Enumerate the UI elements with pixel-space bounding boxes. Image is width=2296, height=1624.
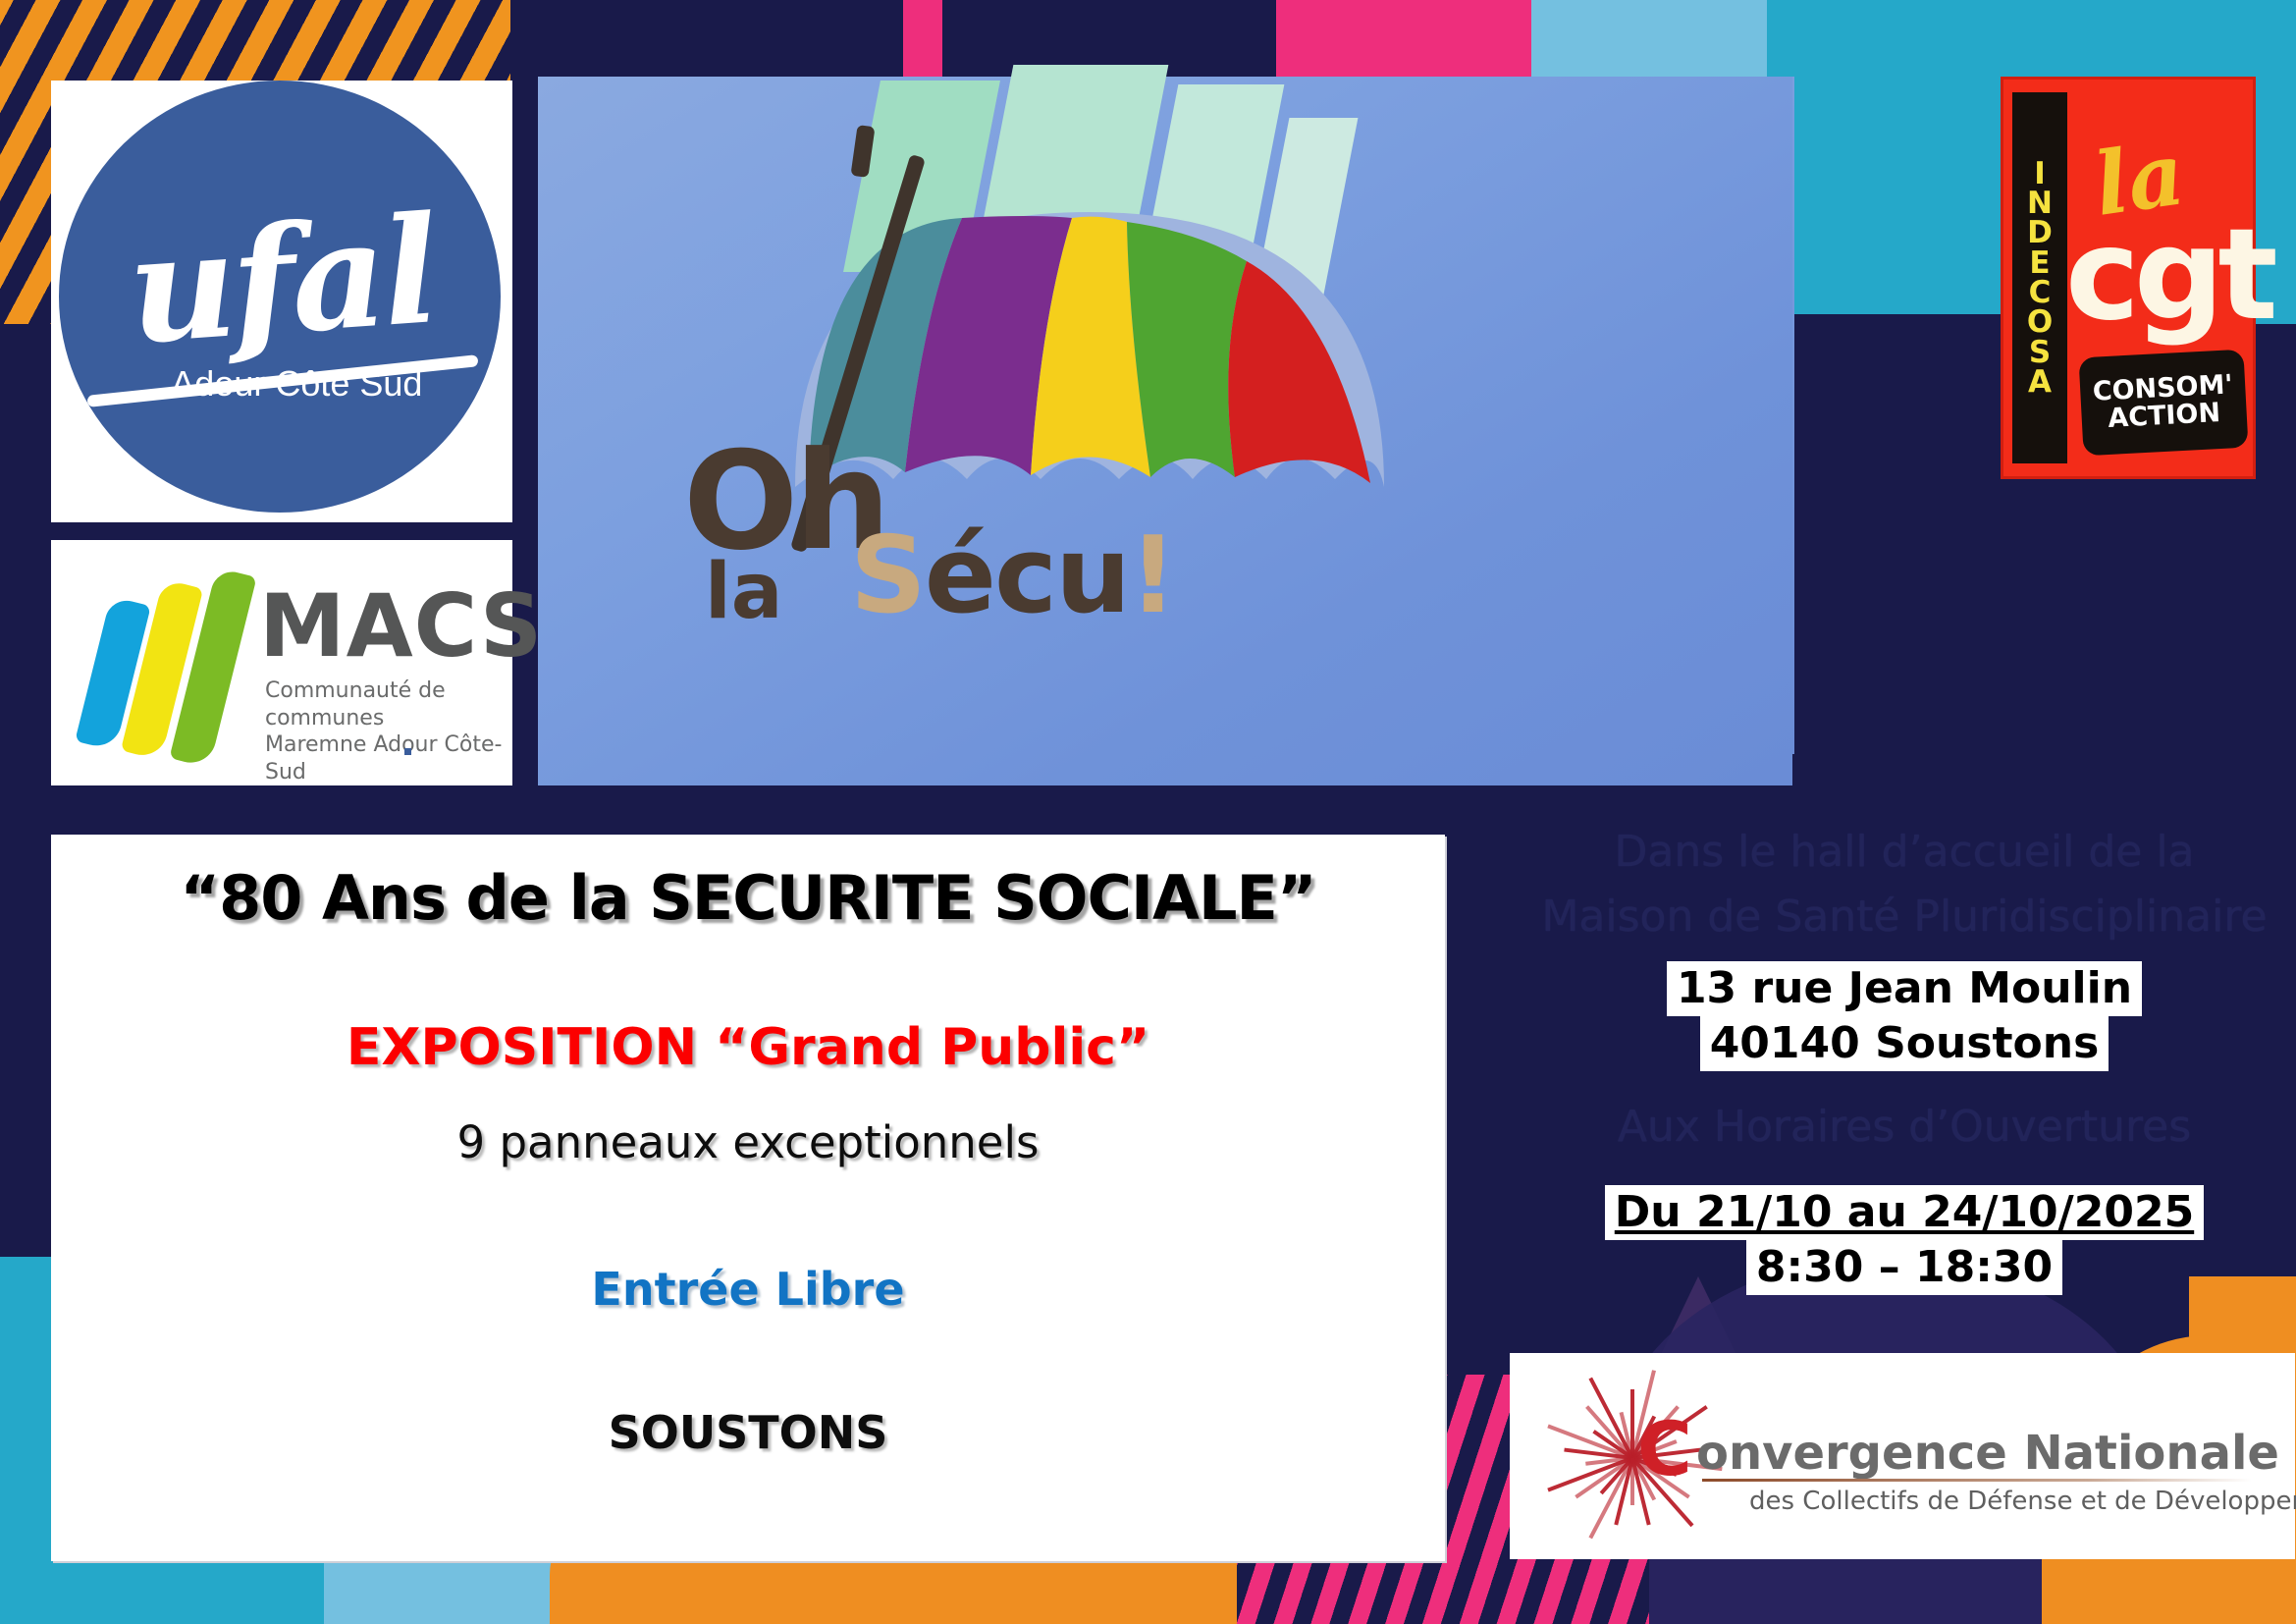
- cgt-wordmark: cgt: [2065, 202, 2272, 349]
- exposition-label: EXPOSITION “Grand Public”: [51, 1018, 1445, 1077]
- oh-la-secu-banner: Oh la Sécu!: [538, 77, 1792, 785]
- venue-street: 13 rue Jean Moulin: [1667, 961, 2142, 1016]
- macs-subtitle-line1: Communauté de communes: [265, 677, 512, 731]
- main-info-panel: “80 Ans de la SECURITE SOCIALE” EXPOSITI…: [51, 835, 1445, 1561]
- logo-text-ecu: écu: [925, 514, 1129, 637]
- macs-dot: [404, 748, 411, 755]
- logo-text-la: la: [705, 548, 782, 636]
- venue-dates: Du 21/10 au 24/10/2025: [1605, 1185, 2204, 1240]
- cgt-indecosa-vertical: INDECOSA: [2012, 92, 2067, 463]
- logo-text-bang: !: [1129, 514, 1175, 637]
- convergence-rule: [1702, 1479, 2252, 1482]
- convergence-subtitle: des Collectifs de Défense et de Développ…: [1749, 1487, 2296, 1516]
- macs-title: MACS: [259, 575, 543, 677]
- logo-text-s: S: [850, 514, 925, 637]
- venue-hours-note: Aux Horaires d’Ouvertures: [1531, 1095, 2277, 1160]
- ufal-logo: ufal Adour Côte Sud: [51, 81, 512, 522]
- macs-subtitle: Communauté de communes Maremne Adour Côt…: [265, 677, 512, 785]
- poster-root: ufal Adour Côte Sud MACS Communauté de c…: [0, 0, 2296, 1624]
- city-label: SOUSTONS: [51, 1406, 1445, 1459]
- venue-address: 13 rue Jean Moulin 40140 Soustons: [1531, 961, 2277, 1071]
- convergence-nationale-logo: C onvergence Nationale des Collectifs de…: [1510, 1353, 2295, 1559]
- cgt-consom-action-badge: CONSOM' ACTION: [2078, 350, 2248, 457]
- free-entry-label: Entrée Libre: [51, 1263, 1445, 1316]
- venue-info-block: Dans le hall d’accueil de la Maison de S…: [1531, 820, 2277, 1295]
- panels-count-text: 9 panneaux exceptionnels: [51, 1116, 1445, 1168]
- page-title: “80 Ans de la SECURITE SOCIALE”: [51, 862, 1445, 934]
- indecosa-cgt-logo: INDECOSA la cgt CONSOM' ACTION: [2001, 77, 2256, 479]
- convergence-initial: C: [1637, 1412, 1692, 1487]
- venue-hall-line: Dans le hall d’accueil de la: [1531, 820, 2277, 885]
- logo-text-secu: Sécu!: [850, 514, 1175, 637]
- ufal-wordmark: ufal: [123, 184, 440, 377]
- convergence-name: onvergence Nationale: [1696, 1426, 2279, 1481]
- macs-bars-icon: [86, 564, 253, 765]
- macs-logo: MACS Communauté de communes Maremne Adou…: [51, 540, 512, 785]
- venue-building-line: Maison de Santé Pluridisciplinaire: [1531, 885, 2277, 949]
- venue-hours: 8:30 – 18:30: [1746, 1240, 2062, 1295]
- macs-subtitle-line2: Maremne Adour Côte-Sud: [265, 731, 512, 785]
- venue-schedule: Du 21/10 au 24/10/2025 8:30 – 18:30: [1531, 1185, 2277, 1295]
- venue-postal-city: 40140 Soustons: [1700, 1016, 2109, 1071]
- ufal-subtitle: Adour Côte Sud: [171, 363, 422, 405]
- cgt-action-line: ACTION: [2108, 400, 2221, 433]
